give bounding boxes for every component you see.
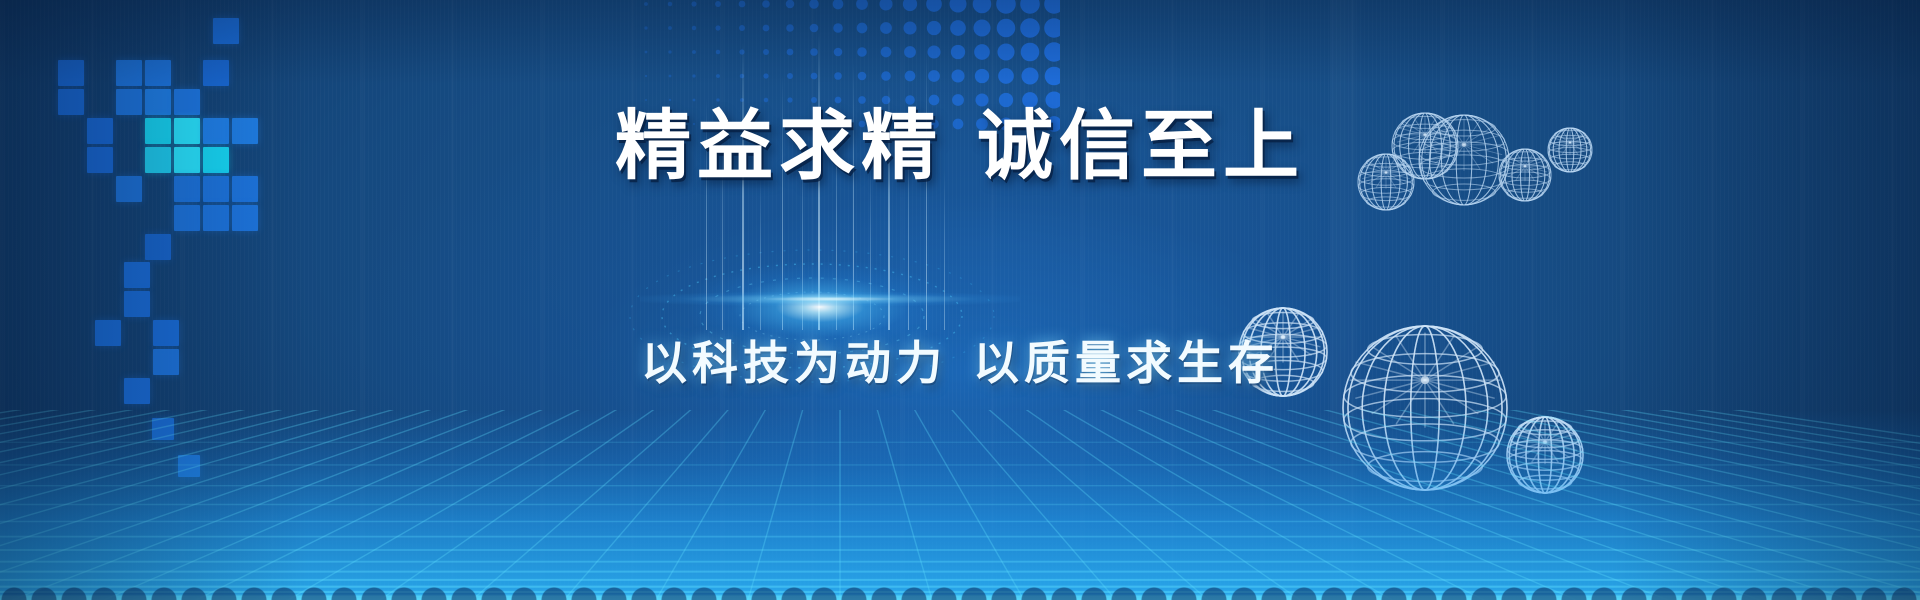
floor-grid-line (564, 410, 840, 600)
floor-grid-line (840, 410, 1300, 600)
mosaic-cell (153, 349, 179, 375)
mosaic-cell (145, 60, 171, 86)
halftone-dot (740, 98, 744, 102)
subline-part-1: 以科技为动力 (641, 336, 947, 390)
wireframe-globe (1548, 128, 1592, 172)
mosaic-cell (124, 291, 150, 317)
floor-grid-line (0, 410, 840, 600)
halftone-dot (740, 122, 743, 125)
halftone-dot (717, 123, 720, 126)
halftone-dot (764, 122, 768, 126)
mosaic-cell (145, 89, 171, 115)
floor-grid-line (656, 410, 840, 600)
halftone-dot (998, 68, 1014, 84)
floor-grid-line (196, 410, 840, 600)
vertical-light-streaks (0, 0, 1920, 600)
halftone-dot (787, 49, 794, 56)
halftone-dot (834, 72, 842, 80)
floor-grid-line (380, 410, 840, 600)
halftone-dot (903, 0, 917, 11)
mosaic-cell (87, 147, 113, 173)
halftone-dot (997, 19, 1016, 38)
wireframe-globe (1343, 326, 1507, 490)
halftone-dot (881, 71, 891, 81)
floor-grid-line (0, 410, 840, 600)
halftone-dot-matrix (640, 0, 1060, 136)
halftone-dot (1023, 117, 1037, 131)
halftone-dot (739, 49, 744, 54)
light-beam (870, 158, 871, 330)
mosaic-cell (145, 234, 171, 260)
floor-grid-line (840, 410, 1920, 600)
light-beam (742, 42, 744, 330)
mosaic-cell (213, 18, 239, 44)
edge-vignette (0, 0, 1920, 600)
halftone-dot (668, 26, 672, 30)
mosaic-cell (124, 262, 150, 288)
halftone-dot (976, 118, 988, 130)
halftone-dot (858, 72, 867, 81)
halftone-dot (810, 24, 819, 33)
floor-grid-line (840, 410, 1920, 600)
halftone-dot (904, 46, 916, 58)
halftone-dot (645, 99, 647, 101)
floor-grid-line (840, 410, 1920, 600)
halftone-dot (857, 23, 868, 34)
floor-grid-line (0, 410, 840, 600)
mosaic-cell (203, 147, 229, 173)
halftone-dot (763, 49, 769, 55)
mosaic-cell (152, 418, 174, 440)
halftone-dot (859, 121, 866, 128)
subline-part-2: 以质量求生存 (973, 336, 1279, 390)
mosaic-cell (58, 89, 84, 115)
halftone-dot (905, 95, 915, 105)
wireframe-globe-cluster-lower (0, 0, 1920, 600)
halftone-dot (788, 122, 792, 126)
halftone-dot (974, 44, 990, 60)
floor-grid-line (840, 410, 1760, 600)
halftone-dot (1045, 91, 1060, 108)
floor-grid-line (0, 410, 840, 600)
floor-grid-line (0, 410, 840, 600)
halftone-dot (927, 21, 941, 35)
halftone-dot (1046, 116, 1060, 132)
halftone-dot (949, 0, 966, 13)
light-core-streak (640, 292, 1020, 306)
halftone-dot (975, 93, 988, 106)
light-beam (944, 170, 945, 330)
floor-grid-line (0, 410, 840, 600)
light-beam (836, 116, 837, 330)
halftone-dot (997, 43, 1014, 60)
wireframe-globe (1507, 417, 1583, 493)
halftone-dot (669, 123, 671, 125)
light-beam (706, 98, 707, 330)
floor-grid-line (840, 410, 1920, 600)
mosaic-cell (174, 89, 200, 115)
halftone-dot (833, 23, 843, 33)
floor-grid-line (0, 410, 840, 600)
headline-part-2: 诚信至上 (977, 101, 1305, 190)
mosaic-cell (174, 176, 200, 202)
floor-grid-line (840, 410, 1116, 600)
floor-grid-line (288, 410, 840, 600)
floor-bottom-bumps (0, 574, 1920, 600)
halftone-dot (952, 94, 964, 106)
wireframe-globe (1392, 113, 1458, 179)
halftone-dot (879, 0, 892, 11)
mosaic-cell (174, 147, 200, 173)
wireframe-globe (1499, 149, 1551, 201)
floor-haze (0, 410, 1920, 600)
mosaic-cell (174, 118, 200, 144)
halftone-dot (669, 99, 671, 101)
halftone-dot (762, 0, 770, 8)
floor-grid-line (0, 410, 840, 600)
perspective-grid-floor (0, 410, 1920, 600)
halftone-dot (951, 69, 964, 82)
halftone-dot (644, 26, 647, 29)
halftone-dot (715, 25, 720, 30)
light-beam (926, 48, 927, 330)
floor-grid-line (840, 410, 1920, 600)
wireframe-globe-cluster-upper (0, 0, 1920, 600)
halftone-dot (973, 19, 990, 36)
halftone-dot (996, 0, 1016, 14)
halftone-dot (835, 121, 841, 127)
halftone-dot (928, 70, 940, 82)
light-beam (722, 134, 723, 330)
halftone-dot (811, 121, 816, 126)
floor-grid-line (472, 410, 840, 600)
halftone-dot (787, 97, 792, 102)
halftone-dot (906, 120, 915, 129)
floor-grid-line (840, 410, 1920, 600)
floor-grid-line (748, 410, 840, 600)
halftone-dot (856, 0, 868, 10)
halftone-dot (715, 1, 721, 7)
headline-part-1: 精益求精 (615, 101, 943, 190)
halftone-dot (786, 0, 795, 8)
halftone-dot (951, 45, 965, 59)
mosaic-cell (203, 118, 229, 144)
halftone-dot (669, 75, 672, 78)
halftone-dot (926, 0, 942, 12)
halftone-dot (692, 50, 696, 54)
halftone-dot (809, 0, 819, 9)
mosaic-cell (203, 205, 229, 231)
floor-grid-line (12, 410, 840, 600)
halftone-dot (764, 98, 768, 102)
floor-grid-line (0, 410, 840, 600)
mosaic-cell (124, 378, 150, 404)
halftone-dot (668, 2, 672, 6)
floor-grid-line (840, 410, 1208, 600)
halftone-dot (810, 48, 818, 56)
mosaic-cell (203, 176, 229, 202)
floor-grid-line (104, 410, 840, 600)
halftone-dot (903, 21, 916, 34)
mosaic-cell (232, 205, 258, 231)
floor-grid-line (840, 410, 1920, 600)
floor-grid-line (840, 410, 1392, 600)
halftone-dot (1022, 92, 1038, 108)
mosaic-cell (87, 118, 113, 144)
halftone-dot (882, 96, 891, 105)
halftone-dot (716, 50, 720, 54)
halftone-dot (787, 73, 793, 79)
mosaic-cell (145, 118, 171, 144)
mosaic-cell (232, 118, 258, 144)
halftone-dot (880, 22, 892, 34)
light-beam (888, 85, 890, 330)
mosaic-cell (58, 60, 84, 86)
halftone-dot (929, 119, 939, 129)
halftone-dot (716, 74, 720, 78)
halftone-dot (693, 123, 695, 125)
halftone-dot (739, 25, 745, 31)
halftone-dot (881, 47, 892, 58)
floor-grid-line (840, 410, 1920, 600)
halftone-dot (1020, 18, 1040, 38)
halftone-dot (834, 48, 843, 57)
halftone-dot (740, 74, 744, 78)
halftone-dot (858, 96, 866, 104)
halftone-dot (811, 73, 818, 80)
mosaic-cell (116, 89, 142, 115)
halftone-dot (692, 26, 696, 30)
halftone-dot (645, 123, 647, 125)
banner-headline: 精益求精诚信至上 (0, 108, 1920, 184)
halftone-dot (835, 97, 842, 104)
halftone-dot (833, 0, 844, 9)
halftone-dot (929, 95, 940, 106)
halftone-dot (973, 0, 992, 13)
halftone-dot (857, 47, 867, 57)
floor-grid-line (840, 410, 1920, 600)
mosaic-cell (116, 176, 142, 202)
floor-grid-line (840, 410, 1576, 600)
light-beam (853, 62, 854, 330)
floor-grid-line (0, 410, 840, 600)
mosaic-cell (232, 176, 258, 202)
halftone-dot (644, 2, 648, 6)
halftone-dot (999, 117, 1012, 130)
halftone-dot (763, 73, 768, 78)
floor-grid-line (840, 410, 1484, 600)
mosaic-cell (178, 455, 200, 477)
floor-grid-line (840, 410, 1668, 600)
floor-grid-line (840, 410, 1920, 600)
halftone-dot (1021, 67, 1038, 84)
floor-grid-line (840, 410, 1024, 600)
halftone-dot (1021, 43, 1040, 62)
mosaic-cell (174, 205, 200, 231)
light-beam (908, 134, 909, 330)
halftone-dot (645, 75, 647, 77)
halftone-dot (1044, 0, 1060, 14)
vertical-light-beams (690, 0, 1010, 330)
scanline-texture (0, 0, 1920, 600)
halftone-dot (739, 1, 746, 8)
floor-grid-line (840, 410, 1852, 600)
mosaic-cell (153, 320, 179, 346)
banner-subline: 以科技为动力以质量求生存 (0, 340, 1920, 386)
wireframe-globe (1358, 154, 1414, 210)
floor-grid-line (840, 410, 1920, 600)
pixel-mosaic-upper (0, 0, 1920, 600)
halftone-dot (975, 69, 989, 83)
halftone-dot (668, 50, 671, 53)
light-beam (818, 30, 820, 330)
floor-grid-line (840, 410, 1920, 600)
wireframe-globe (1419, 115, 1509, 205)
mosaic-cell (95, 320, 121, 346)
floor-grid-line (0, 410, 840, 600)
text-layer: 精益求精诚信至上 以科技为动力以质量求生存 (0, 0, 1920, 600)
orbit-rings (600, 230, 1020, 405)
light-beam (760, 180, 761, 330)
floor-grid-line (0, 410, 840, 600)
halftone-dot (763, 25, 770, 32)
pixel-mosaic-accents (0, 0, 1920, 600)
halftone-dot (1045, 67, 1060, 86)
light-core-glow (690, 262, 950, 352)
halftone-dot (1044, 18, 1060, 38)
halftone-dot (1044, 42, 1060, 62)
halftone-dot (811, 97, 817, 103)
halftone-dot (786, 24, 794, 32)
halftone-dot (953, 119, 964, 130)
halftone-dot (1020, 0, 1040, 14)
halftone-dot (692, 74, 695, 77)
light-beam (782, 75, 783, 330)
halftone-dot (693, 99, 696, 102)
mosaic-cell (116, 60, 142, 86)
pixel-mosaic-lower (0, 0, 1920, 600)
halftone-dot (927, 45, 940, 58)
halftone-dot (882, 120, 890, 128)
halftone-dot (691, 1, 696, 6)
floor-grid-line (840, 410, 1920, 600)
mosaic-cell (203, 60, 229, 86)
floor-grid-line (840, 410, 932, 600)
mosaic-cell (145, 147, 171, 173)
wireframe-globe (1239, 308, 1327, 396)
halftone-dot (905, 71, 916, 82)
halftone-dot (645, 51, 648, 54)
floor-grid-line (0, 410, 840, 600)
halftone-dot (999, 93, 1013, 107)
hero-banner: 精益求精诚信至上 以科技为动力以质量求生存 (0, 0, 1920, 600)
halftone-dot (716, 98, 719, 101)
halftone-dot (950, 20, 966, 36)
light-beam (802, 142, 803, 330)
